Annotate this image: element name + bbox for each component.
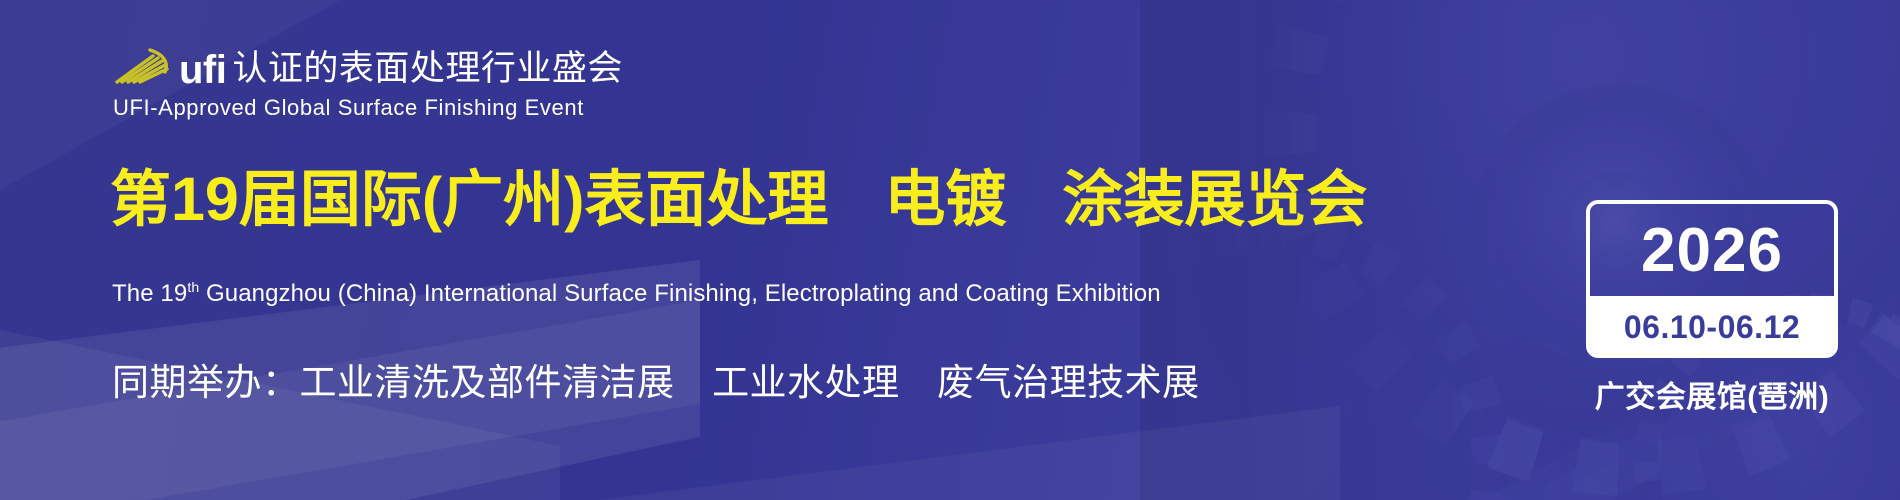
ufi-wordmark: ufi — [179, 52, 226, 88]
subtitle-prefix: The 19 — [112, 280, 187, 307]
ufi-endorsement-block: ufi 认证的表面处理行业盛会 UFI-Approved Global Surf… — [113, 46, 623, 121]
title-segment-3: 涂装展览会 — [1062, 165, 1367, 233]
ufi-tagline-en: UFI-Approved Global Surface Finishing Ev… — [113, 95, 623, 121]
concurrent-events-line: 同期举办：工业清洗及部件清洁展 工业水处理 废气治理技术展 — [112, 352, 1200, 406]
venue-name: 广交会展馆(琶洲) — [1586, 372, 1838, 416]
title-subtitle-en: The 19th Guangzhou (China) International… — [112, 280, 1161, 308]
title-segment-2: 电镀 — [884, 165, 1006, 233]
page-title: 第19届国际(广州)表面处理 电镀 涂装展览会 — [110, 162, 1367, 236]
concurrent-item-2: 工业水处理 — [712, 362, 900, 403]
concurrent-label: 同期举办：工业清洗及部件清洁展 — [112, 362, 675, 403]
badge-date-range: 06.10-06.12 — [1590, 296, 1834, 358]
subtitle-ordinal: th — [187, 279, 199, 295]
badge-year: 2026 — [1590, 204, 1834, 296]
date-badge: 2026 06.10-06.12 — [1586, 200, 1838, 358]
subtitle-rest: Guangzhou (China) International Surface … — [199, 280, 1160, 307]
concurrent-item-3: 废气治理技术展 — [937, 362, 1200, 403]
banner-content: ufi 认证的表面处理行业盛会 UFI-Approved Global Surf… — [0, 0, 1900, 500]
ufi-tagline-cn: 认证的表面处理行业盛会 — [232, 51, 623, 87]
ufi-swoosh-icon — [113, 46, 173, 86]
ufi-logo-row: ufi 认证的表面处理行业盛会 — [113, 46, 623, 86]
title-segment-1: 第19届国际(广州)表面处理 — [110, 165, 828, 233]
event-banner: ufi 认证的表面处理行业盛会 UFI-Approved Global Surf… — [0, 0, 1900, 500]
